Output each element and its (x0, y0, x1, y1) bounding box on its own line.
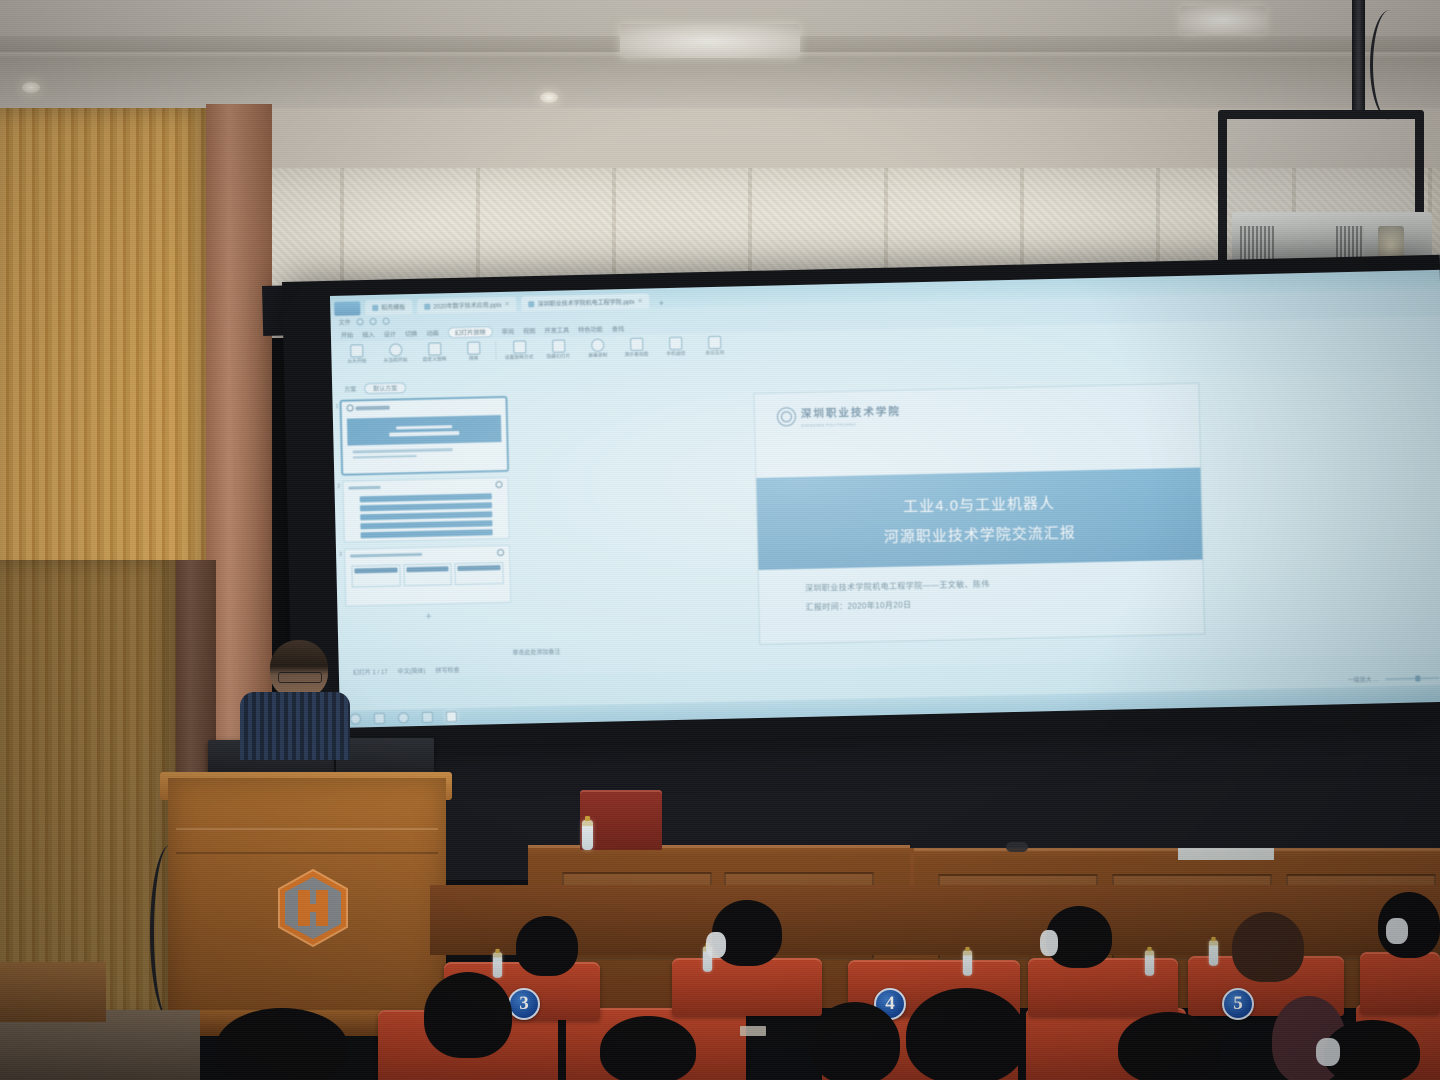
wps-presentation-window[interactable]: 稻壳模板 2020年数字技术应用.pptx ✕ 深圳职业技术学院机电工程学院.p… (330, 270, 1440, 728)
water-bottle (493, 952, 502, 978)
org-name-bar (356, 405, 390, 410)
zoom-slider[interactable] (1385, 676, 1439, 679)
menu-item-insert[interactable]: 插入 (362, 330, 375, 339)
add-slide-button[interactable]: + (345, 609, 511, 625)
ribbon-button-phone-remote[interactable]: 手机遥控 (658, 336, 692, 357)
current-slide[interactable]: 深圳职业技术学院 SHENZHEN POLYTECHNIC 工业4.0与工业机器… (754, 384, 1204, 644)
downlight-icon (540, 92, 558, 103)
seat-number-badge-5: 5 (1222, 988, 1254, 1020)
ribbon-button-meeting[interactable]: 会议互动 (697, 336, 731, 357)
ribbon-button-from-start[interactable]: 从头开始 (339, 344, 373, 365)
menu-item-animation[interactable]: 动画 (426, 328, 439, 337)
menu-item-features[interactable]: 特色功能 (578, 325, 603, 335)
redo-icon[interactable] (383, 318, 390, 325)
content-chip (458, 565, 501, 571)
podium-rail (176, 828, 438, 854)
projection-screen[interactable]: 稻壳模板 2020年数字技术应用.pptx ✕ 深圳职业技术学院机电工程学院.p… (330, 270, 1440, 728)
water-bottle (1209, 940, 1218, 966)
menu-item-review[interactable]: 审阅 (502, 327, 515, 336)
seat-tag (740, 1026, 766, 1036)
ribbon-label: 会议互动 (705, 351, 724, 356)
ribbon-button-setup-show[interactable]: 设置放映方式 (502, 340, 536, 361)
internet-explorer-icon[interactable] (398, 712, 409, 723)
ribbon-label: 演示者视图 (624, 353, 648, 358)
water-bottle (1145, 950, 1154, 976)
audience-seat (672, 958, 822, 1016)
hide-slide-icon (552, 339, 565, 352)
menu-item-developer[interactable]: 开发工具 (544, 325, 569, 335)
audience-head (216, 1008, 348, 1080)
undo-icon[interactable] (370, 318, 377, 325)
audience-head (600, 1016, 696, 1080)
podium-hexagon-h-logo (276, 868, 350, 948)
menu-item-design[interactable]: 设计 (384, 329, 397, 338)
ribbon-label: 排练 (469, 357, 479, 362)
slide-canvas-area[interactable]: 深圳职业技术学院 SHENZHEN POLYTECHNIC 工业4.0与工业机器… (510, 370, 1440, 644)
ppt-file-icon (529, 301, 535, 307)
slide-presenter-line: 深圳职业技术学院机电工程学院——王文敏、陈伟 (805, 579, 990, 594)
file-menu-button[interactable]: 文件 (339, 318, 351, 327)
face-mask (1040, 930, 1058, 956)
windows-start-icon[interactable] (350, 713, 361, 724)
tab-label: 稻壳模板 (381, 302, 405, 312)
scheme-label: 方案 (344, 384, 356, 393)
face-mask (706, 932, 726, 958)
meeting-icon (708, 336, 721, 349)
title-line-2 (389, 431, 459, 436)
slide-thumbnail-pane[interactable]: 1 (332, 392, 516, 648)
ribbon-label: 从当前开始 (384, 358, 408, 363)
thumbnail-number: 3 (339, 552, 342, 558)
audience-seat (1360, 952, 1440, 1014)
projected-computer-ui[interactable]: 稻壳模板 2020年数字技术应用.pptx ✕ 深圳职业技术学院机电工程学院.p… (330, 270, 1440, 728)
workspace: 1 (332, 370, 1440, 648)
close-icon[interactable]: ✕ (638, 298, 643, 305)
zoom-control[interactable]: 一级放大 … (1348, 673, 1440, 684)
slide-org-logo: 深圳职业技术学院 SHENZHEN POLYTECHNIC (754, 384, 1199, 429)
slide-title-line-2: 河源职业技术学院交流汇报 (884, 521, 1076, 547)
audience-head (906, 988, 1026, 1080)
slide-thumbnail-1[interactable]: 1 (340, 397, 508, 475)
thumb-footer-lines (353, 447, 497, 459)
ceiling-light-panel (1180, 6, 1266, 34)
thumb-org-logo (341, 398, 505, 412)
screen-record-icon (591, 339, 604, 352)
org-name-cn: 深圳职业技术学院 (801, 406, 901, 420)
thumb-content-row (345, 556, 510, 588)
rehearse-icon (467, 341, 480, 354)
ribbon-label: 自定义放映 (423, 357, 447, 362)
agenda-item (360, 493, 492, 502)
save-icon[interactable] (357, 318, 364, 325)
audience-head (1232, 912, 1304, 982)
setup-show-icon (513, 340, 526, 353)
content-chip (354, 567, 397, 573)
audience-head (810, 1002, 900, 1080)
seat-number-badge-3: 3 (508, 988, 540, 1020)
org-name-en: SHENZHEN POLYTECHNIC (801, 422, 901, 428)
thumb-title-band (347, 415, 502, 446)
chat-icon[interactable] (374, 713, 385, 724)
speaker-shirt (240, 692, 350, 760)
ppt-file-icon (424, 303, 430, 309)
wps-icon[interactable] (446, 711, 457, 722)
notes-placeholder[interactable]: 单击此处添加备注 (512, 646, 560, 656)
ceiling-light-panel (620, 24, 800, 58)
projector-mount-rod (1352, 0, 1365, 118)
slide-date-line: 汇报时间：2020年10月20日 (805, 598, 990, 613)
close-icon[interactable]: ✕ (505, 301, 510, 308)
glasses-icon (278, 672, 322, 683)
tab-docer[interactable]: 稻壳模板 (365, 299, 412, 315)
thumb-heading-bar (350, 553, 422, 558)
custom-show-icon (428, 342, 441, 355)
agenda-item (360, 511, 492, 520)
presenter-line (353, 448, 453, 453)
menu-item-slideshow[interactable]: 幻灯片放映 (448, 326, 493, 338)
new-tab-button[interactable]: + (655, 298, 668, 308)
zoom-slider-knob[interactable] (1415, 675, 1420, 681)
circular-seal-icon (777, 407, 796, 426)
ribbon-button-custom-show[interactable]: 自定义放映 (417, 342, 451, 363)
zoom-label: 一级放大 … (1348, 674, 1380, 684)
tab-document-1[interactable]: 2020年数字技术应用.pptx ✕ (417, 297, 517, 314)
slide-counter: 幻灯片 1 / 17 (353, 666, 388, 676)
tab-label: 2020年数字技术应用.pptx (433, 300, 502, 311)
thumbnail-number: 1 (336, 404, 339, 410)
tab-document-2[interactable]: 深圳职业技术学院机电工程学院.pptx ✕ (521, 293, 649, 311)
audience-head (516, 916, 578, 976)
ribbon-label: 设置放映方式 (505, 355, 534, 360)
title-line-1 (396, 425, 452, 430)
scheme-select[interactable]: 默认方案 (364, 382, 406, 394)
downlight-icon (22, 82, 40, 93)
ribbon-button-rehearse[interactable]: 排练 (456, 341, 490, 362)
content-chip (406, 566, 449, 572)
presenter-view-icon (630, 338, 643, 351)
date-line (353, 455, 417, 459)
thumb-agenda-list (344, 488, 509, 539)
grid-icon (372, 304, 378, 310)
slide-title-line-1: 工业4.0与工业机器人 (903, 491, 1055, 516)
agenda-item (360, 521, 492, 530)
menu-item-transition[interactable]: 切换 (405, 329, 418, 338)
menu-item-start[interactable]: 开始 (341, 330, 354, 339)
ribbon-label: 手机遥控 (666, 352, 685, 357)
face-mask (1386, 918, 1408, 944)
cloud-icon[interactable] (422, 712, 433, 723)
tab-label: 深圳职业技术学院机电工程学院.pptx (538, 297, 635, 308)
ribbon-label: 屏幕录制 (588, 354, 607, 359)
audience-head (1118, 1012, 1220, 1080)
ribbon-label: 从头开始 (347, 359, 366, 364)
lecture-hall-photo: 稻壳模板 2020年数字技术应用.pptx ✕ 深圳职业技术学院机电工程学院.p… (0, 0, 1440, 1080)
desk-mouse (1006, 842, 1028, 852)
spellcheck-indicator[interactable]: 拼写检查 (435, 665, 459, 675)
slide-title-band: 工业4.0与工业机器人 河源职业技术学院交流汇报 (756, 468, 1202, 570)
circular-seal-icon (347, 404, 354, 411)
ribbon-button-screen-record[interactable]: 屏幕录制 (580, 338, 614, 359)
audience-head (424, 972, 512, 1058)
thumbnail-number: 2 (337, 484, 340, 490)
ribbon-group-play: 从头开始 从当前开始 自定义放映 排练 (339, 341, 496, 365)
desk-papers (1178, 848, 1274, 860)
speaker-head (270, 640, 328, 698)
side-table (0, 962, 106, 1022)
hexagon-h-icon (276, 868, 350, 948)
audience-seat (1028, 958, 1178, 1016)
play-from-start-icon (350, 344, 363, 357)
projector-cable (1370, 10, 1410, 120)
ribbon-label: 隐藏幻灯片 (547, 355, 571, 360)
ribbon-button-presenter-view[interactable]: 演示者视图 (619, 337, 653, 358)
agenda-item (360, 502, 492, 511)
thumb-heading-bar (348, 486, 380, 490)
ribbon-button-from-current[interactable]: 从当前开始 (378, 343, 412, 364)
slide-footer: 深圳职业技术学院机电工程学院——王文敏、陈伟 汇报时间：2020年10月20日 (805, 579, 991, 621)
content-box (455, 562, 504, 585)
ribbon-group-setup: 设置放映方式 隐藏幻灯片 屏幕录制 演示者视图 (502, 335, 736, 361)
wps-logo-icon (334, 301, 360, 316)
phone-remote-icon (669, 337, 682, 350)
content-box (403, 563, 452, 586)
slide-thumbnail-3[interactable]: 3 (344, 545, 511, 607)
speaker-person (240, 640, 350, 760)
language-indicator[interactable]: 中文(简体) (397, 665, 425, 675)
play-from-current-icon (389, 343, 402, 356)
face-mask (1316, 1038, 1340, 1066)
menu-item-search[interactable]: 查找 (612, 324, 625, 333)
slide-thumbnail-2[interactable]: 2 (342, 477, 509, 543)
water-bottle (963, 950, 972, 976)
water-bottle (582, 820, 593, 850)
content-box (351, 564, 400, 587)
ribbon-button-hide-slide[interactable]: 隐藏幻灯片 (541, 339, 575, 360)
agenda-item (361, 530, 493, 539)
menu-item-view[interactable]: 视图 (523, 326, 536, 335)
